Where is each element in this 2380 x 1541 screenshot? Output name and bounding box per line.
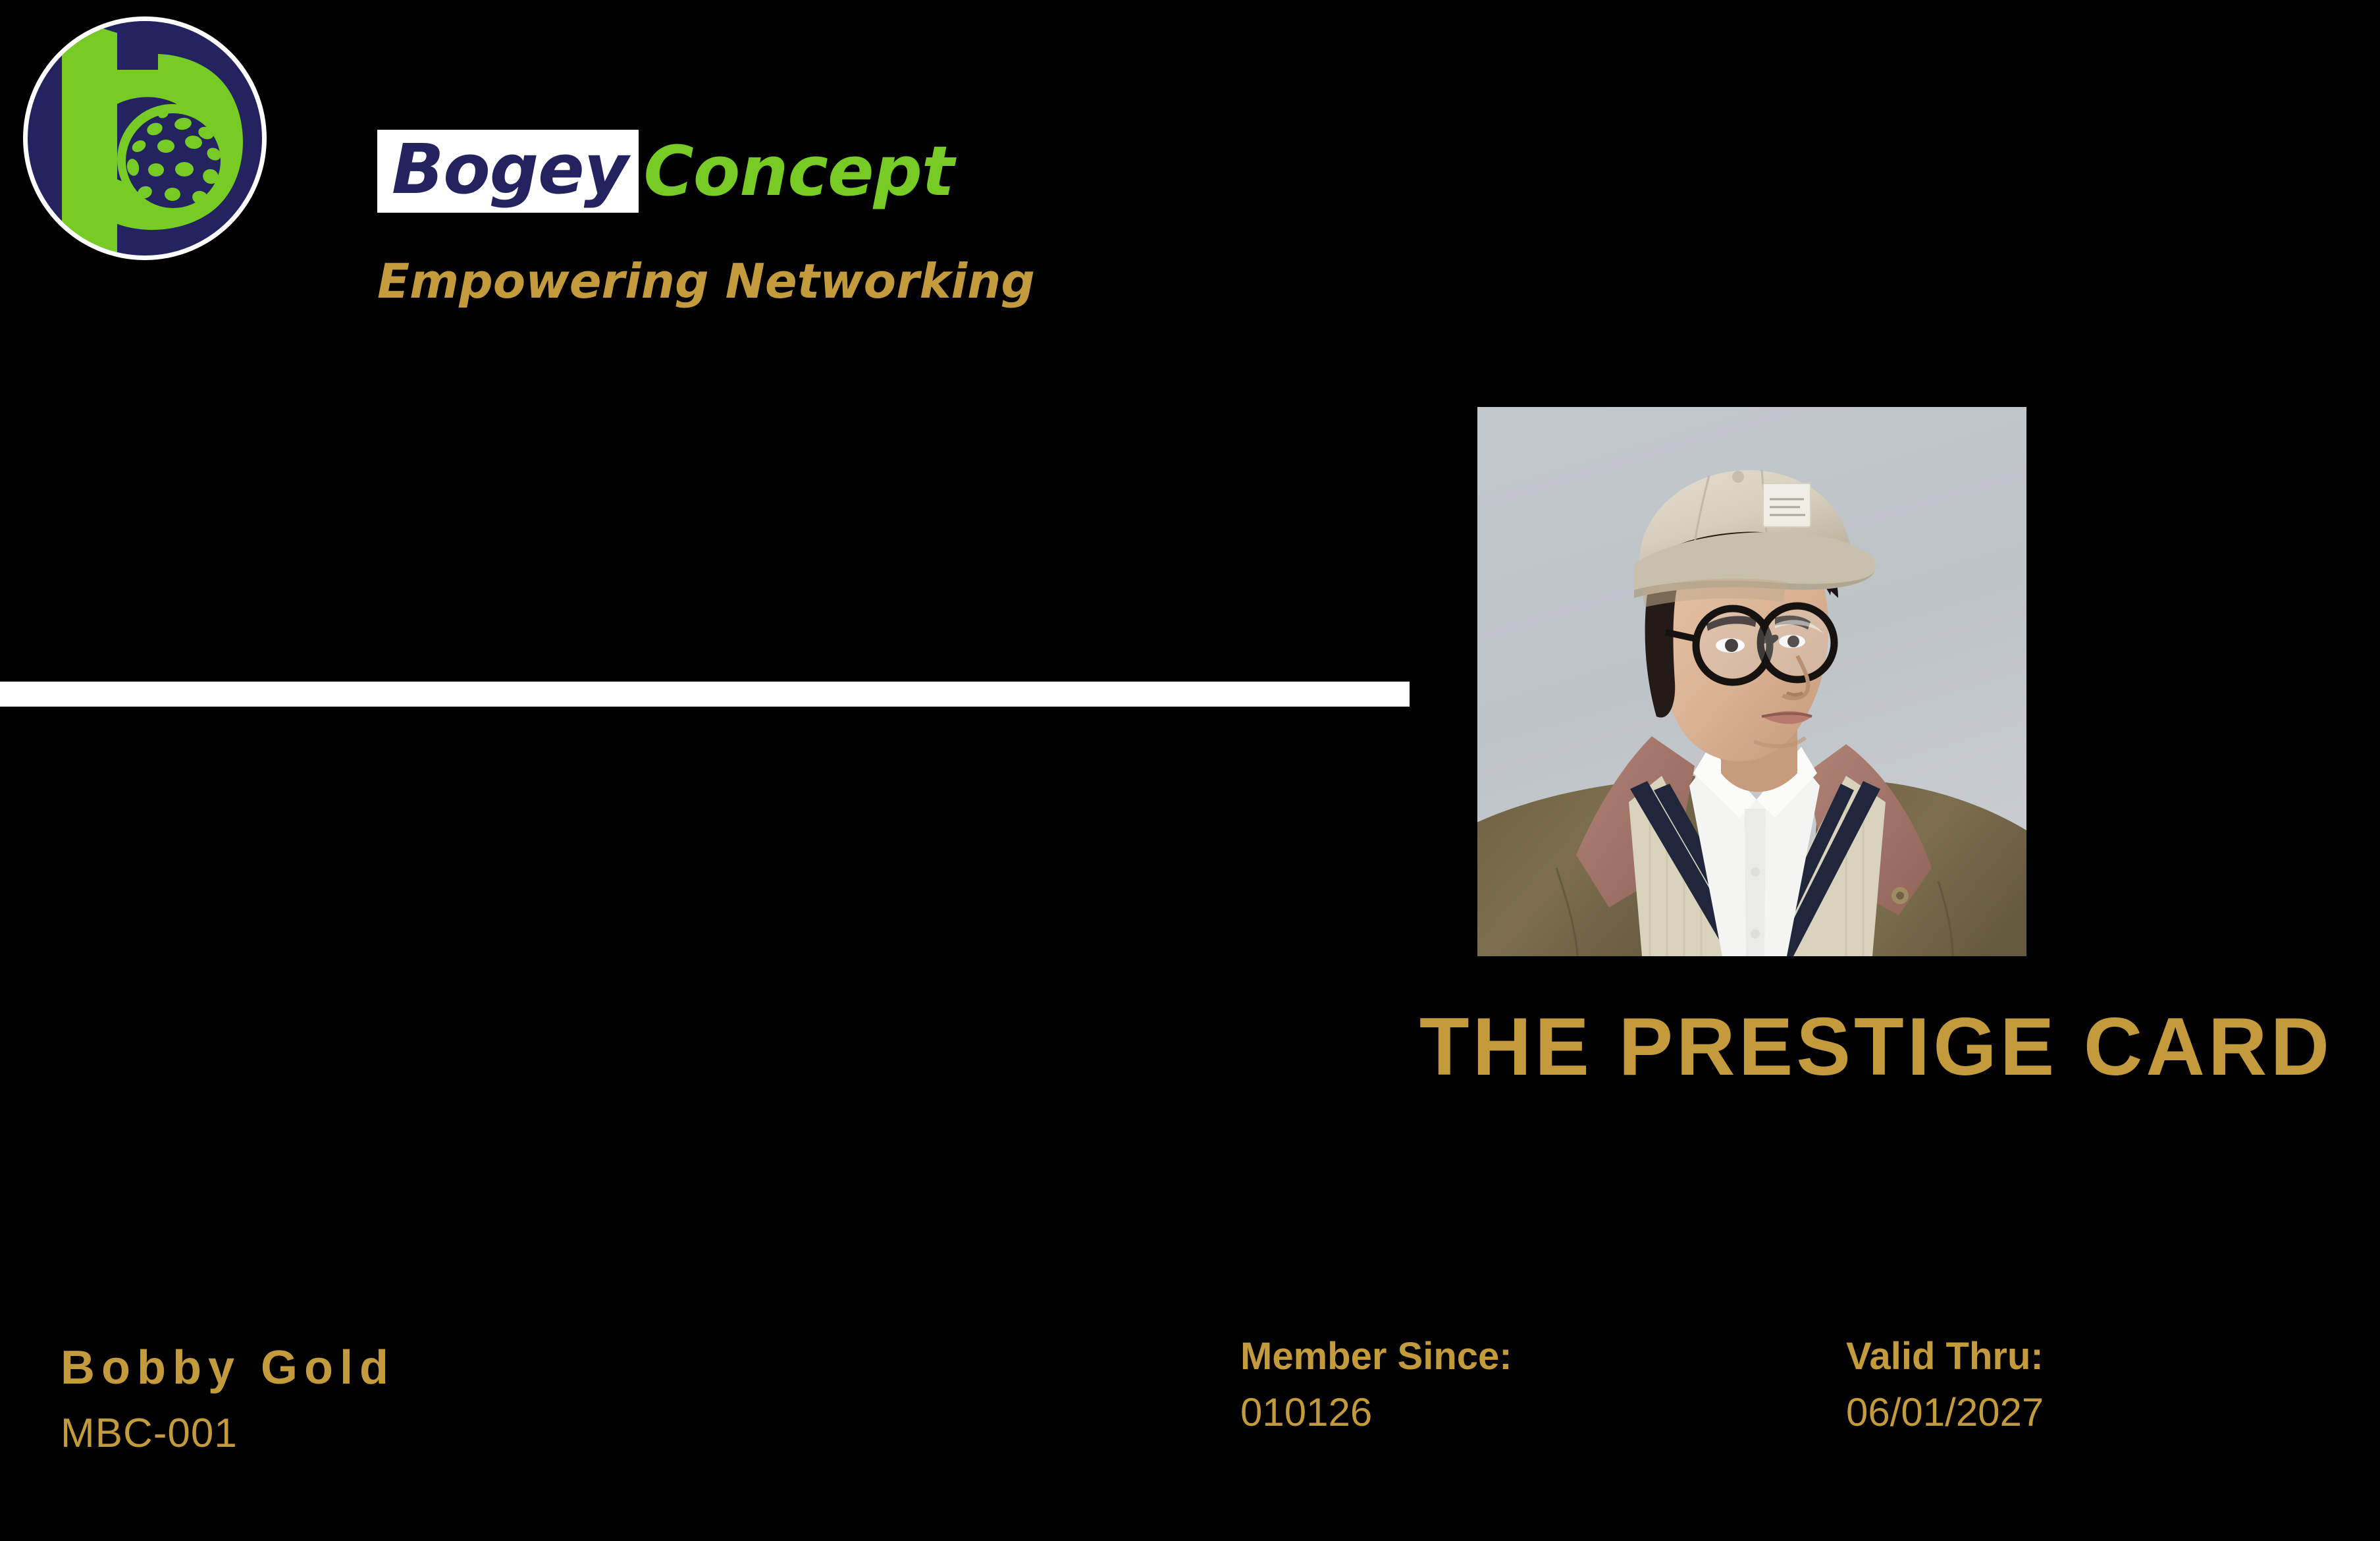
brand-name-secondary: Concept: [639, 137, 954, 205]
member-name: Bobby Gold: [61, 1343, 395, 1392]
brand-tagline: Empowering Networking: [377, 254, 1035, 309]
member-since-label: Member Since:: [1240, 1337, 1512, 1376]
page-title: THE PRESTIGE CARD: [1419, 1006, 2333, 1088]
bogey-concept-logo-badge: [20, 7, 270, 270]
valid-thru-value: 06/01/2027: [1846, 1392, 2044, 1433]
brand-wordmark: Bogey Concept: [377, 135, 954, 207]
membership-card: Bogey Concept Empowering Networking: [0, 0, 2380, 1541]
accent-bar: [0, 682, 1410, 707]
valid-thru-label: Valid Thru:: [1846, 1337, 2044, 1376]
member-since-value: 010126: [1240, 1392, 1512, 1433]
member-portrait-photo: [1477, 407, 2026, 956]
member-since-block: Member Since: 010126: [1240, 1337, 1512, 1433]
member-id: MBC-001: [61, 1413, 238, 1455]
member-portrait: [1477, 407, 2026, 956]
bogey-golf-ball-badge-icon: [20, 7, 270, 270]
brand-name-primary: Bogey: [377, 130, 639, 213]
valid-thru-block: Valid Thru: 06/01/2027: [1846, 1337, 2044, 1433]
